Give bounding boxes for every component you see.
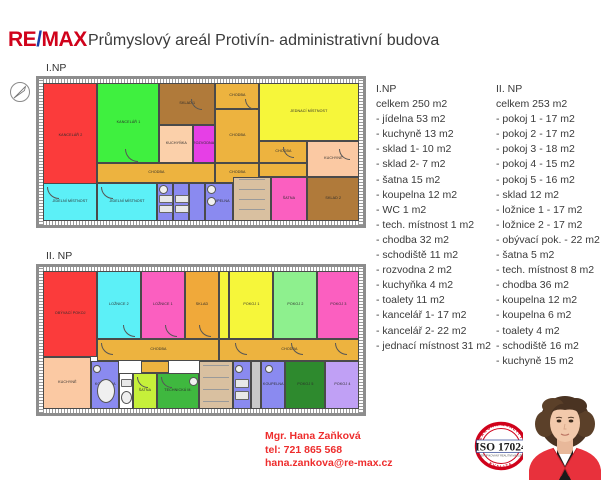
room-label: KOUPELNA [263,383,284,387]
spec-item: - kuchyně 15 m2 [496,354,600,369]
spec-item: - šatna 5 m2 [496,248,600,263]
spec-total: celkem 250 m2 [376,97,491,112]
floor-caption-second: II. NP [46,250,72,262]
wall-right [359,267,363,413]
spec-item: - ložnice 1 - 17 m2 [496,203,600,218]
stair-step [239,189,265,190]
room-utility-shaft[interactable] [251,361,261,409]
stair-step [203,365,229,366]
room-label: POKOJ 5 [297,383,313,387]
room-label: POKOJ 3 [330,303,346,307]
room-obyvaci-pokoj[interactable]: OBÝVACÍ POKOJ [43,271,97,357]
bathtub-icon [97,379,115,403]
spec-item: - jídelna 53 m2 [376,112,491,127]
room-label: CHODBA [229,171,245,175]
spec-item: - kancelář 2- 22 m2 [376,324,491,339]
remax-logo: RE/MAX [8,28,87,52]
room-pokoj-3[interactable]: POKOJ 3 [317,271,359,339]
room-label: KUCHYNĚ [324,157,343,161]
spec-item: - sklad 2- 7 m2 [376,157,491,172]
room-label: CHODBA [148,171,164,175]
spec-item: - chodba 36 m2 [496,278,600,293]
agent-portrait-photo [523,392,607,480]
iso-certification-badge: ISO 17024 ZÁRUKA KVALITY KVALITA CERTIFI… [473,420,529,472]
room-kuchyne-second[interactable]: KUCHYNĚ [43,357,91,409]
room-chodba-c[interactable]: CHODBA [259,141,307,163]
stair-step [239,179,265,180]
spec-item: - tech. místnost 8 m2 [496,263,600,278]
wc-fixture-icon [235,379,249,388]
room-label: KUCHYŇKA [165,142,186,146]
room-satna-first[interactable]: ŠATNA [271,177,307,221]
brochure-page: RE/MAX Průmyslový areál Protivín- admini… [0,0,611,480]
contact-block: Mgr. Hana Zaňková tel: 721 865 568 hana.… [265,430,393,471]
spec-list-first-floor: I.NP celkem 250 m2 - jídelna 53 m2 - kuc… [376,82,491,354]
room-label: KANCELÁŘ 2 [58,134,82,138]
spec-item: - pokoj 4 - 15 m2 [496,157,600,172]
spec-item: - kancelář 1- 17 m2 [376,308,491,323]
spec-item: - schodiště 11 m2 [376,248,491,263]
sink-icon [235,365,243,373]
stair-step [203,401,229,402]
room-label: SKLAD 2 [325,197,341,201]
spec-item: - pokoj 5 - 16 m2 [496,173,600,188]
room-label: LOŽNICE 1 [153,303,173,307]
room-label: ŠATNA [283,197,295,201]
floorplan-second-inner: OBÝVACÍ POKOJ LOŽNICE 2 LOŽNICE 1 SKLAD … [39,267,363,413]
spec-item: - obývací pok. - 22 m2 [496,233,600,248]
stair-step [203,389,229,390]
room-chodba-second-a[interactable]: CHODBA [97,339,219,361]
spec-item: - toalety 4 m2 [496,324,600,339]
contact-name: Mgr. Hana Zaňková [265,430,393,444]
wall-bottom [43,221,359,225]
logo-re-text: RE [8,28,36,51]
page-title: Průmyslový areál Protivín- administrativ… [88,32,439,50]
spec-item: - šatna 15 m2 [376,173,491,188]
contact-email[interactable]: hana.zankova@re-max.cz [265,457,393,471]
room-kuchynka[interactable]: KUCHYŇKA [159,125,193,163]
room-chodba-d[interactable]: CHODBA [97,163,215,183]
wall-right [359,79,363,225]
sink-icon [207,197,216,206]
spec-item: - pokoj 3 - 18 m2 [496,142,600,157]
sink-icon [93,365,101,373]
room-chodba-second-c[interactable] [141,361,169,373]
room-jednaci-mistnost[interactable]: JEDNACÍ MÍSTNOST [259,83,359,141]
room-label: CHODBA [229,94,245,98]
room-sklad-1[interactable]: SKLAD 1 [159,83,215,125]
room-chodba-f[interactable] [259,163,307,177]
sink-icon [265,365,273,373]
room-label: JEDNACÍ MÍSTNOST [290,110,327,114]
contact-phone[interactable]: tel: 721 865 568 [265,444,393,458]
wc-fixture-icon [121,379,132,387]
room-label: JÍDELNÍ MÍSTNOST [109,200,144,204]
room-pokoj-2[interactable]: POKOJ 2 [273,271,317,339]
spec-item: - jednací místnost 31 m2 [376,339,491,354]
wc-fixture-icon [235,391,249,400]
room-rozvodna[interactable]: ROZVODNA [193,125,215,163]
room-spacer-yellow[interactable] [219,271,229,339]
spec-list-second-floor: II. NP celkem 253 m2 - pokoj 1 - 17 m2 -… [496,82,600,369]
toilet-icon [121,391,132,404]
floorplan-first-inner: KANCELÁŘ 2 KANCELÁŘ 1 SKLAD 1 CHODBA CHO… [39,79,363,225]
wc-fixture-icon [175,205,189,213]
room-label: POKOJ 4 [334,383,350,387]
room-wc-3[interactable] [189,183,205,221]
spec-heading: II. NP [496,82,600,97]
room-label: TECHNICKÁ M. [164,389,191,393]
spec-item: - pokoj 1 - 17 m2 [496,112,600,127]
room-label: KANCELÁŘ 1 [116,121,140,125]
room-label: JÍDELNÍ MÍSTNOST [52,200,87,204]
spec-item: - koupelna 12 m2 [496,293,600,308]
spec-item: - sklad 12 m2 [496,188,600,203]
sink-icon [207,185,216,194]
room-label: CHODBA [229,134,245,138]
stair-step [239,209,265,210]
spec-item: - kuchyňka 4 m2 [376,278,491,293]
room-label: ROZVODNA [193,142,214,146]
room-chodba-b[interactable]: CHODBA [215,109,259,163]
room-pokoj-4[interactable]: POKOJ 4 [325,361,359,409]
svg-text:ISO 17024: ISO 17024 [475,441,527,453]
floorplan-first-floor[interactable]: KANCELÁŘ 2 KANCELÁŘ 1 SKLAD 1 CHODBA CHO… [36,76,366,228]
spec-item: - WC 1 m2 [376,203,491,218]
room-label: SKLAD [196,303,208,307]
spec-total: celkem 253 m2 [496,97,600,112]
wc-fixture-icon [159,205,173,213]
spec-item: - chodba 32 m2 [376,233,491,248]
room-sklad-2[interactable]: SKLAD 2 [307,177,359,221]
fixture-icon [189,377,198,386]
stair-step [239,199,265,200]
room-label: CHODBA [150,348,166,352]
floorplan-second-floor[interactable]: OBÝVACÍ POKOJ LOŽNICE 2 LOŽNICE 1 SKLAD … [36,264,366,416]
north-arrow-icon [10,82,30,102]
room-pokoj-5[interactable]: POKOJ 5 [285,361,325,409]
spec-heading: I.NP [376,82,491,97]
room-loznice-1[interactable]: LOŽNICE 1 [141,271,185,339]
logo-max-text: MAX [42,28,87,51]
spec-item: - rozvodna 2 m2 [376,263,491,278]
spec-item: - toalety 11 m2 [376,293,491,308]
room-label: POKOJ 1 [243,303,259,307]
sink-icon [159,185,168,194]
wall-bottom [43,409,359,413]
wc-fixture-icon [175,195,189,203]
room-schodiste-second[interactable] [199,361,233,409]
spec-item: - schodiště 16 m2 [496,339,600,354]
wc-fixture-icon [159,195,173,203]
stair-step [203,377,229,378]
spec-item: - sklad 1- 10 m2 [376,142,491,157]
spec-item: - koupelna 6 m2 [496,308,600,323]
room-label: ŠATNA [139,389,151,393]
room-kancelar-2[interactable]: KANCELÁŘ 2 [43,83,97,189]
floor-caption-first: I.NP [46,62,66,74]
room-label: LOŽNICE 2 [109,303,129,307]
spec-item: - ložnice 2 - 17 m2 [496,218,600,233]
room-kuchyne[interactable]: KUCHYNĚ [307,141,359,177]
spec-item: - koupelna 12 m2 [376,188,491,203]
room-pokoj-1[interactable]: POKOJ 1 [229,271,273,339]
room-label: KUCHYNĚ [58,381,77,385]
spec-item: - kuchyně 13 m2 [376,127,491,142]
spec-item: - tech. místnost 1 m2 [376,218,491,233]
room-label: OBÝVACÍ POKOJ [55,312,86,316]
room-label: POKOJ 2 [287,303,303,307]
spec-item: - pokoj 2 - 17 m2 [496,127,600,142]
